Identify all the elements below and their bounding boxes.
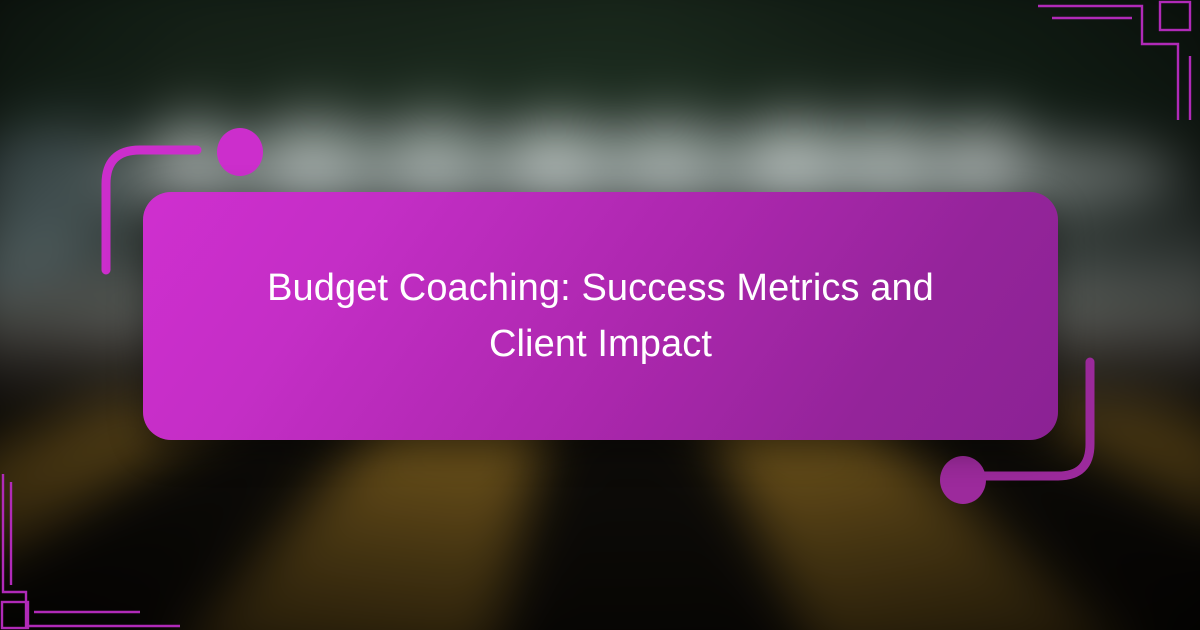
accent-dot-top-left [217,128,263,176]
accent-dot-bottom-right [940,456,986,504]
page-title: Budget Coaching: Success Metrics and Cli… [221,260,981,372]
title-card: Budget Coaching: Success Metrics and Cli… [143,192,1058,440]
social-card-canvas: Budget Coaching: Success Metrics and Cli… [0,0,1200,630]
